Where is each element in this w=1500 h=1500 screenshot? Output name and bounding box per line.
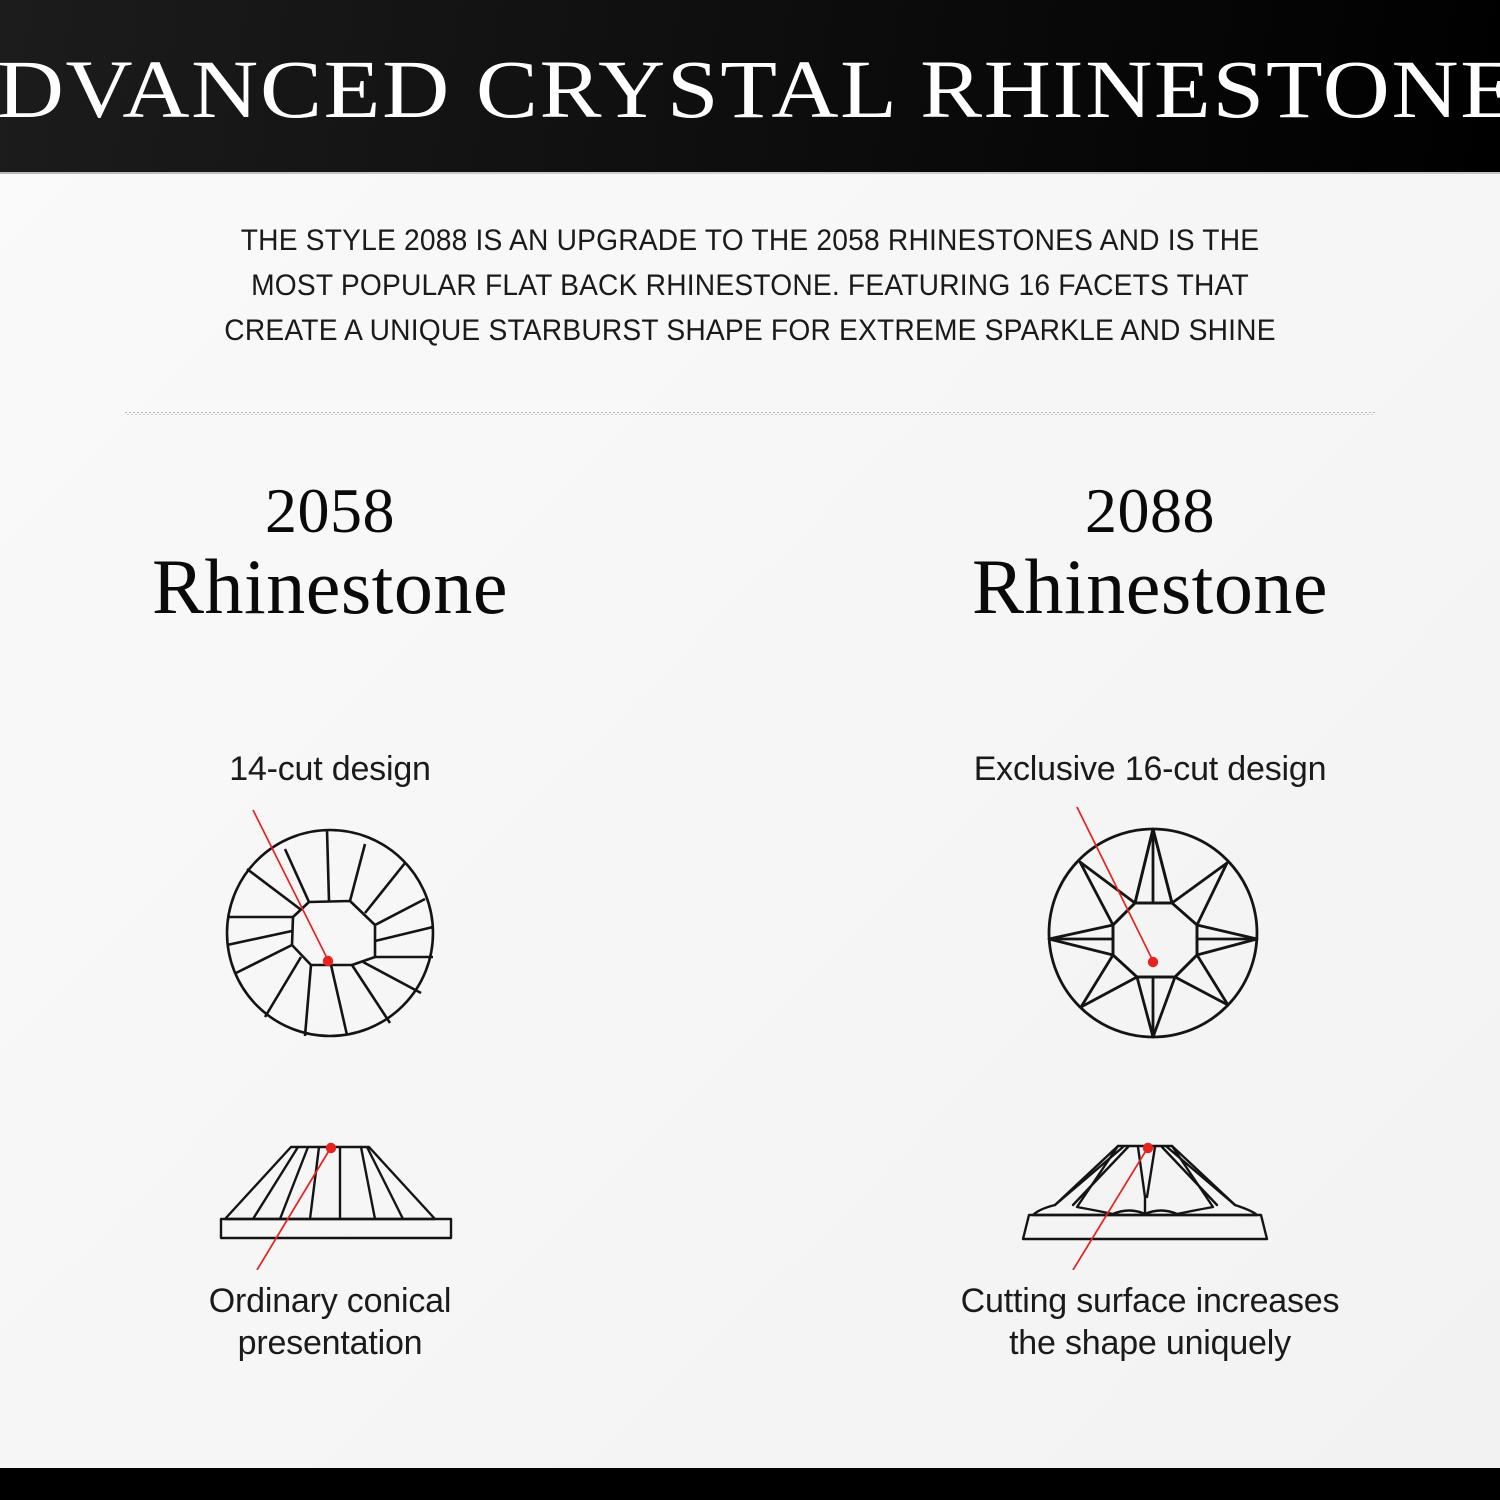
cone-body-2058 [225,1147,435,1219]
facet-edge-right [1167,1147,1235,1205]
caption-2088: Cutting surface increases the shape uniq… [830,1280,1470,1364]
facet-spoke [265,957,301,1017]
inner-table-polygon-2058 [292,901,375,965]
pointer-dot-2058 [323,956,333,966]
star-point-ne [1172,863,1227,925]
heading-2088: 2088 Rhinestone [830,480,1470,625]
facet-line [253,1147,298,1219]
star-point-sw [1081,955,1137,1007]
intro-line-3: CREATE A UNIQUE STARBURST SHAPE FOR EXTR… [163,308,1338,353]
pointer-dot-2088-side [1143,1143,1153,1153]
svg-2058-top-view [205,805,455,1055]
header-underline [0,172,1500,174]
page-title: ADVANCED CRYSTAL RHINESTONES [0,42,1500,131]
heading-2088-word: Rhinestone [830,549,1470,625]
base-slab-2058 [221,1219,451,1238]
star-point-se [1175,955,1228,1005]
infographic-page: ADVANCED CRYSTAL RHINESTONES THE STYLE 2… [0,0,1500,1500]
heading-2058-word: Rhinestone [10,549,650,625]
svg-2088-side-view [995,1135,1295,1270]
facet-center-right [1147,1147,1155,1197]
facet-spoke [375,899,425,925]
diagram-2058-side-view [195,1135,485,1275]
diagram-2058-top-view [205,805,455,1060]
outer-circle-2058 [227,830,433,1036]
intro-line-2: MOST POPULAR FLAT BACK RHINESTONE. FEATU… [163,263,1338,308]
star-point-nw [1080,862,1135,925]
facet-spoke [365,863,405,913]
facet-spoke [350,844,365,901]
base-slab-2088 [1023,1215,1267,1239]
cut-label-2058: 14-cut design [10,750,650,789]
facet-spoke [236,945,292,973]
heading-2088-number: 2088 [830,480,1470,543]
svg-2088-top-view [1025,805,1285,1055]
heading-2058: 2058 Rhinestone [10,480,650,625]
cut-label-2088: Exclusive 16-cut design [830,750,1470,789]
facet-spoke [285,849,309,902]
intro-line-1: THE STYLE 2088 IS AN UPGRADE TO THE 2058… [163,218,1338,263]
facet-spoke [227,931,292,945]
header-banner: ADVANCED CRYSTAL RHINESTONES [0,0,1500,172]
facet-edge-left-2 [1073,1147,1128,1205]
section-divider [125,412,1375,415]
facet-spoke [363,962,421,993]
footer-bar [0,1468,1500,1500]
caption-2088-line-1: Cutting surface increases [830,1280,1470,1322]
facet-edge-left [1055,1147,1123,1205]
column-2058-heading: 2058 Rhinestone [10,480,650,625]
facet-edge-right-2 [1162,1147,1217,1205]
caption-2088-line-2: the shape uniquely [830,1322,1470,1364]
star-ray [1135,829,1153,903]
facet-spoke [331,965,347,1035]
pointer-dot-2058-side [326,1143,336,1153]
pointer-dot-2088 [1148,957,1158,967]
facet-line [310,1147,319,1219]
facet-spoke [375,927,433,941]
heading-2058-number: 2058 [10,480,650,543]
pointer-line-2058-side [257,1149,330,1270]
caption-2058-line-2: presentation [10,1322,650,1364]
svg-2058-side-view [195,1135,485,1270]
facet-spoke [327,830,329,901]
diagram-2088-side-view [995,1135,1295,1275]
facet-spoke [305,965,311,1036]
star-ray [1153,829,1172,903]
intro-paragraph: THE STYLE 2088 IS AN UPGRADE TO THE 2058… [163,218,1338,353]
caption-2058-line-1: Ordinary conical [10,1280,650,1322]
caption-2058: Ordinary conical presentation [10,1280,650,1364]
diagram-2088-top-view [1025,805,1285,1060]
column-2088-heading: 2088 Rhinestone [830,480,1470,625]
star-point-s [1137,977,1175,1037]
